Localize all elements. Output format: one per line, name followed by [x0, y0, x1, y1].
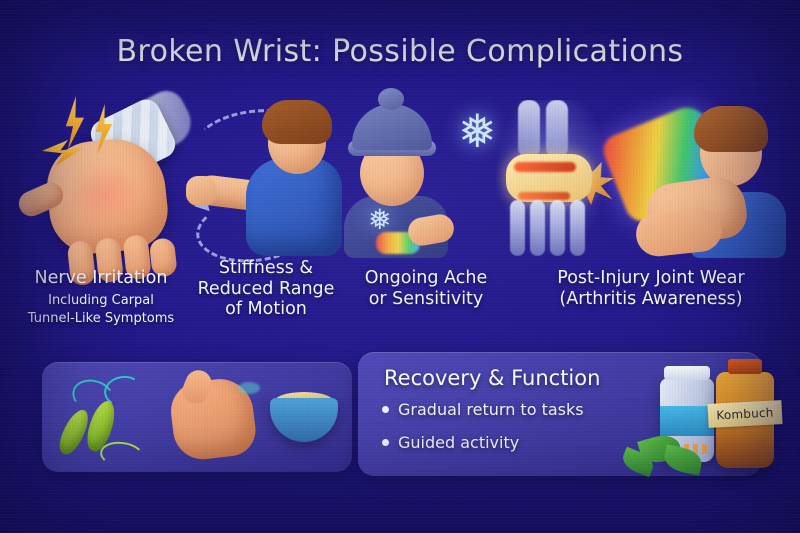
bottle-label-band: [660, 406, 714, 436]
caption-subline-1: Including Carpal: [12, 292, 190, 310]
infographic-poster: Broken Wrist: Possible Complications: [0, 0, 800, 533]
bottle-cap-shape: [664, 366, 710, 380]
caption-stiffness: Stiffness & Reduced Range of Motion: [188, 258, 344, 320]
steam-wisp-shape: [238, 382, 260, 394]
illustration-xray-wrist: [496, 100, 608, 256]
food-bowl-shape: [270, 398, 338, 442]
boy-hair-shape: [262, 100, 332, 144]
kombucha-label: Kombuch: [707, 400, 782, 428]
list-item: Gradual return to tasks: [382, 400, 584, 419]
page-title: Broken Wrist: Possible Complications: [0, 34, 800, 69]
list-item-label: Guided activity: [398, 433, 519, 452]
caption-heading-line-2: or Sensitivity: [369, 289, 484, 309]
recovery-item-list: Gradual return to tasks Guided activity: [382, 400, 584, 466]
caption-heading-line-2: Reduced Range: [198, 279, 335, 299]
thumb-shape: [15, 179, 67, 221]
metacarpal-bone-shape: [570, 200, 585, 256]
bacteria-flagella-shape: [98, 439, 145, 471]
caption-heading-line-3: of Motion: [225, 299, 307, 319]
fist-shape: [186, 176, 216, 206]
caption-heading-line-2: (Arthritis Awareness): [559, 289, 742, 309]
inflammation-marker: [518, 192, 570, 200]
caption-subline-2: Tunnel-Like Symptoms: [12, 310, 190, 328]
bullet-icon: [382, 406, 389, 413]
boy-hair-shape: [694, 106, 768, 152]
caption-heading-line-1: Post-Injury Joint Wear: [557, 268, 744, 288]
forearm-bone-shape: [518, 100, 540, 158]
metacarpal-bone-shape: [530, 200, 545, 256]
snowflake-icon: ❅: [458, 108, 497, 154]
inflammation-marker: [514, 162, 576, 172]
metacarpal-bone-shape: [510, 200, 525, 256]
snowflake-icon: ❅: [368, 206, 391, 234]
caption-heading: Nerve Irritation: [35, 268, 168, 288]
caption-heading-line-1: Ongoing Ache: [365, 268, 487, 288]
forearm-bone-shape: [546, 100, 568, 158]
bullet-icon: [382, 439, 389, 446]
probiotics-panel: [42, 362, 352, 472]
bottle-cap-shape: [728, 359, 762, 374]
list-item: Guided activity: [382, 433, 584, 452]
beanie-hat-shape: [352, 104, 432, 150]
recovery-panel-title: Recovery & Function: [384, 366, 600, 390]
caption-joint-wear: Post-Injury Joint Wear (Arthritis Awaren…: [516, 268, 786, 309]
palm-pain-glow: [67, 163, 144, 226]
caption-heading-line-1: Stiffness &: [219, 258, 313, 278]
list-item-label: Gradual return to tasks: [398, 400, 584, 419]
kombucha-bottle-shape: Kombuch: [716, 372, 774, 468]
caption-ongoing-ache: Ongoing Ache or Sensitivity: [348, 268, 504, 309]
caption-nerve-irritation: Nerve Irritation Including Carpal Tunnel…: [12, 268, 190, 328]
metacarpal-bone-shape: [550, 200, 565, 256]
